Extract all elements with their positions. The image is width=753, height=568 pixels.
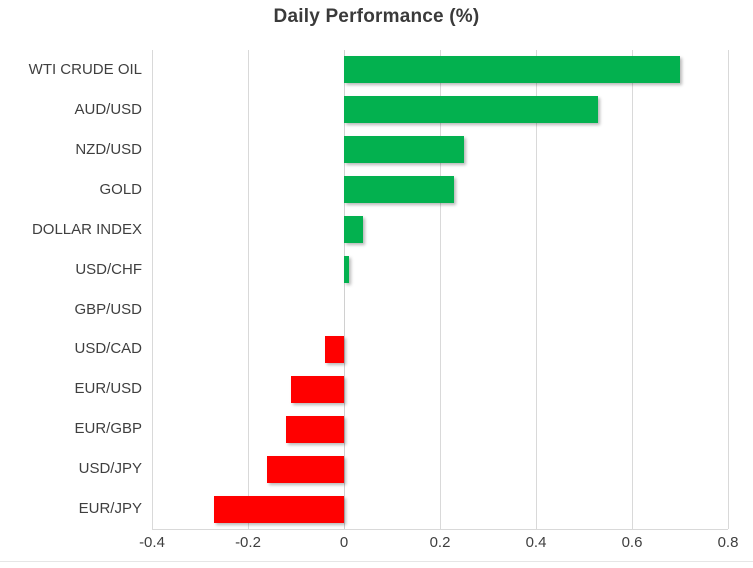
y-axis-label-eur-usd: EUR/USD <box>0 369 142 409</box>
bar-dollar-index <box>344 216 363 243</box>
bar-eur-usd <box>291 376 344 403</box>
y-axis-label-aud-usd: AUD/USD <box>0 90 142 130</box>
bar-nzd-usd <box>344 136 464 163</box>
bar-row <box>152 409 728 449</box>
bar-usd-chf <box>344 256 349 283</box>
plot-area <box>152 50 728 529</box>
y-axis-label-usd-jpy: USD/JPY <box>0 449 142 489</box>
bar-row <box>152 130 728 170</box>
y-axis-label-dollar-index: DOLLAR INDEX <box>0 210 142 250</box>
bar-row <box>152 290 728 330</box>
x-axis-tick-0.8: 0.8 <box>698 534 753 551</box>
bar-row <box>152 210 728 250</box>
x-axis-tick-0.6: 0.6 <box>602 534 662 551</box>
bar-aud-usd <box>344 96 598 123</box>
y-axis-label-wti-crude-oil: WTI CRUDE OIL <box>0 50 142 90</box>
bar-row <box>152 170 728 210</box>
bar-row <box>152 369 728 409</box>
x-axis-tick-0.4: 0.4 <box>506 534 566 551</box>
y-axis-label-usd-chf: USD/CHF <box>0 250 142 290</box>
x-axis-tick--0.4: -0.4 <box>122 534 182 551</box>
y-axis-label-gbp-usd: GBP/USD <box>0 290 142 330</box>
y-axis-label-eur-gbp: EUR/GBP <box>0 409 142 449</box>
bar-usd-cad <box>325 336 344 363</box>
y-axis-label-gold: GOLD <box>0 170 142 210</box>
daily-performance-chart: Daily Performance (%) WTI CRUDE OILAUD/U… <box>0 0 753 568</box>
bar-row <box>152 250 728 290</box>
bar-row <box>152 90 728 130</box>
gridline-0.8 <box>728 50 729 529</box>
chart-title: Daily Performance (%) <box>0 6 753 28</box>
x-axis-line <box>152 529 728 530</box>
bar-usd-jpy <box>267 456 344 483</box>
bar-wti-crude-oil <box>344 56 680 83</box>
chart-bottom-border <box>0 561 753 562</box>
bar-row <box>152 50 728 90</box>
x-axis-tick-0: 0 <box>314 534 374 551</box>
bar-row <box>152 489 728 529</box>
y-axis-label-usd-cad: USD/CAD <box>0 329 142 369</box>
bar-eur-jpy <box>214 496 344 523</box>
bar-row <box>152 449 728 489</box>
y-axis-label-eur-jpy: EUR/JPY <box>0 489 142 529</box>
x-axis-tick--0.2: -0.2 <box>218 534 278 551</box>
bar-eur-gbp <box>286 416 344 443</box>
bar-gold <box>344 176 454 203</box>
y-axis-label-nzd-usd: NZD/USD <box>0 130 142 170</box>
x-axis-tick-0.2: 0.2 <box>410 534 470 551</box>
bar-row <box>152 329 728 369</box>
